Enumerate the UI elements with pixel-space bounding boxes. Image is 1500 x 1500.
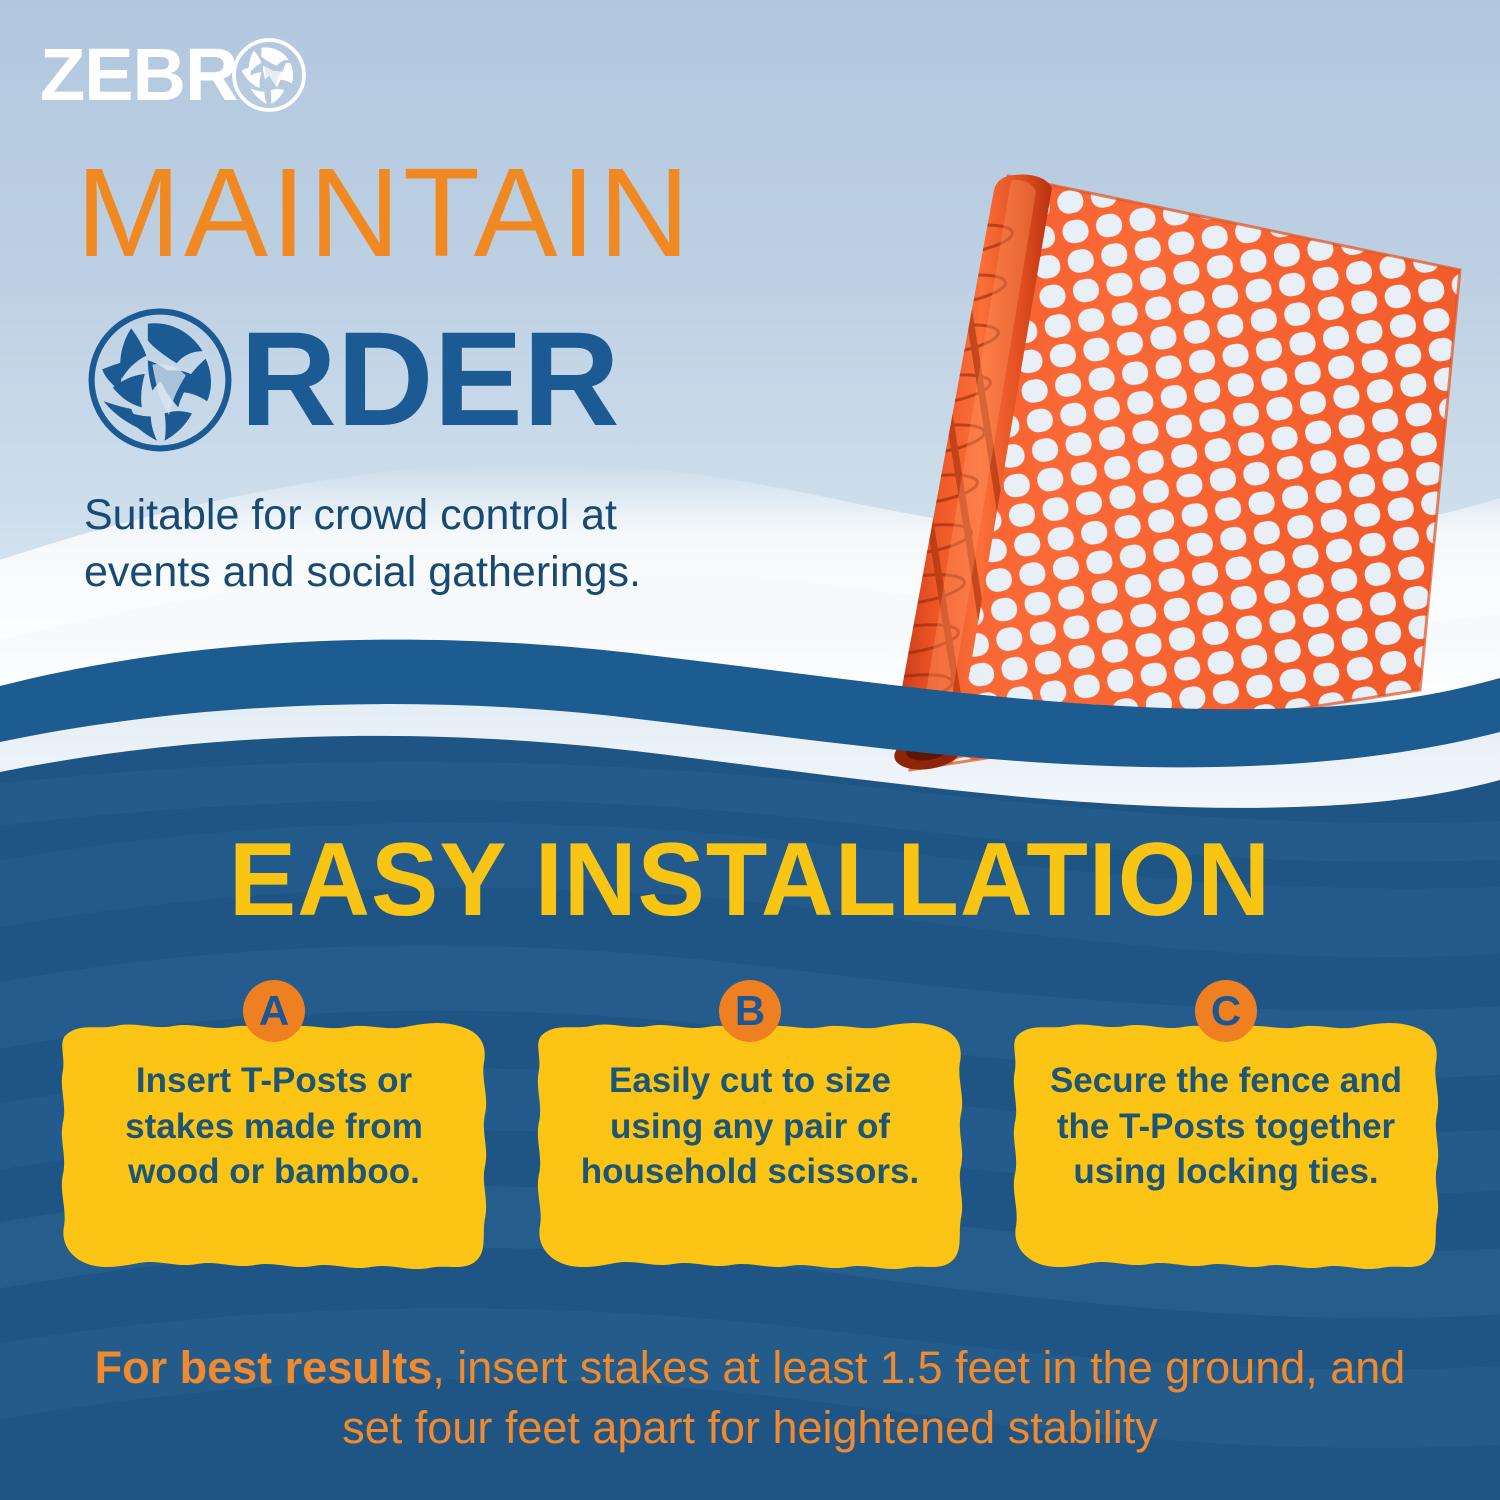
step-card-c: C Secure the fence and the T-Posts toget…: [1005, 980, 1447, 1280]
step-card-a: A Insert T-Posts or stakes made from woo…: [53, 980, 495, 1280]
step-text-b: Easily cut to size using any pair of hou…: [563, 1058, 937, 1195]
infographic-poster: ZEBR MAINTAIN: [0, 0, 1500, 1500]
step-badge-a: A: [243, 980, 305, 1042]
step-text-c: Secure the fence and the T-Posts togethe…: [1039, 1058, 1413, 1195]
step-badge-b: B: [719, 980, 781, 1042]
brand-wordmark: ZEBR: [40, 38, 237, 112]
zebra-head-circle-icon: [84, 304, 236, 456]
footer-lead-text: For best results: [95, 1342, 433, 1393]
step-badge-letter: B: [735, 990, 765, 1032]
headline-order-label: RDER: [240, 313, 620, 447]
headline-order: RDER: [84, 300, 620, 460]
easy-installation-title: EASY INSTALLATION: [23, 828, 1478, 932]
brand-logo: ZEBR: [40, 36, 307, 114]
step-card-b: B Easily cut to size using any pair of h…: [529, 980, 971, 1280]
step-badge-letter: A: [259, 990, 289, 1032]
step-badge-letter: C: [1211, 990, 1241, 1032]
footer-note: For best results, insert stakes at least…: [60, 1338, 1440, 1459]
headline-maintain: MAINTAIN: [76, 150, 693, 276]
zebra-head-circle-icon: [231, 37, 307, 113]
step-badge-c: C: [1195, 980, 1257, 1042]
footer-rest-text: , insert stakes at least 1.5 feet in the…: [342, 1342, 1405, 1453]
hero-subtitle: Suitable for crowd control at events and…: [84, 487, 724, 601]
installation-steps: A Insert T-Posts or stakes made from woo…: [0, 980, 1500, 1280]
step-text-a: Insert T-Posts or stakes made from wood …: [87, 1058, 461, 1195]
